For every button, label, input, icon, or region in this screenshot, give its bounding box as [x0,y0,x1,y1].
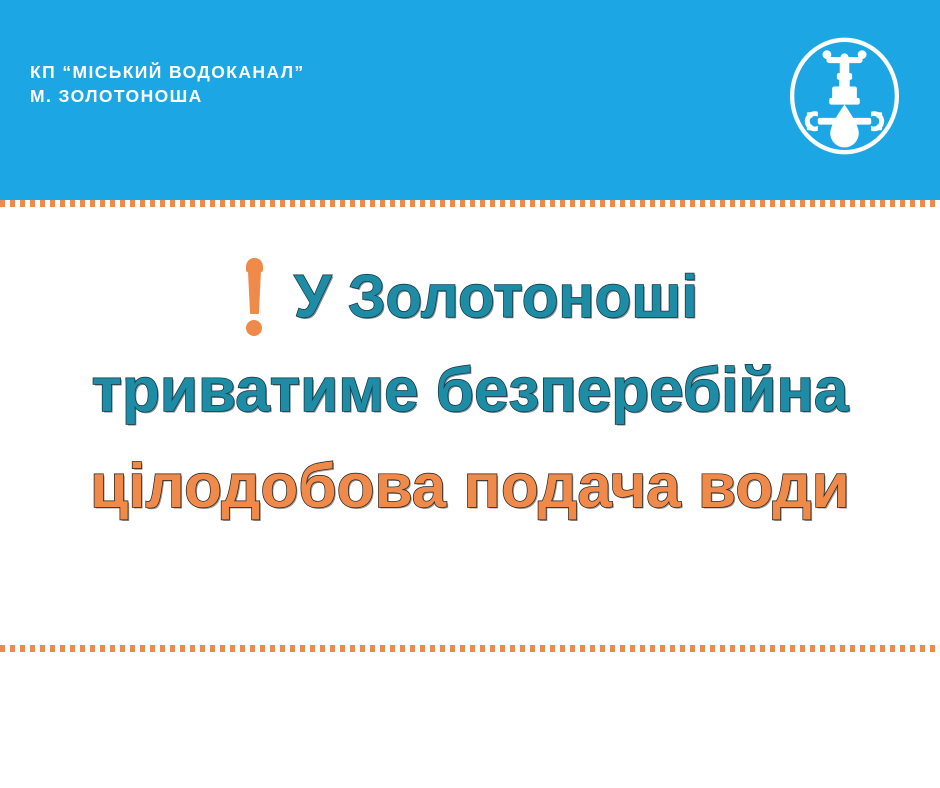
header-band: КП “МІСЬКИЙ ВОДОКАНАЛ” М. ЗОЛОТОНОША [0,0,940,200]
water-utility-logo-icon [787,36,902,156]
dashed-divider-bottom [0,645,940,652]
message-line-1: У Золотоноші [294,267,698,327]
dashed-divider-top [0,200,940,207]
exclamation-mark-icon [242,258,268,336]
message-line-2: триватиме безперебійна [0,360,940,432]
message-line-3: цілодобова подача води [0,456,940,528]
message-line-1-row: У Золотоноші [0,262,940,332]
organization-name-line-1: КП “МІСЬКИЙ ВОДОКАНАЛ” [30,60,305,84]
organization-name: КП “МІСЬКИЙ ВОДОКАНАЛ” М. ЗОЛОТОНОША [30,60,305,108]
organization-name-line-2: М. ЗОЛОТОНОША [30,84,305,108]
announcement-poster: КП “МІСЬКИЙ ВОДОКАНАЛ” М. ЗОЛОТОНОША [0,0,940,788]
announcement-message: У Золотоноші триватиме безперебійна ціло… [0,262,940,528]
